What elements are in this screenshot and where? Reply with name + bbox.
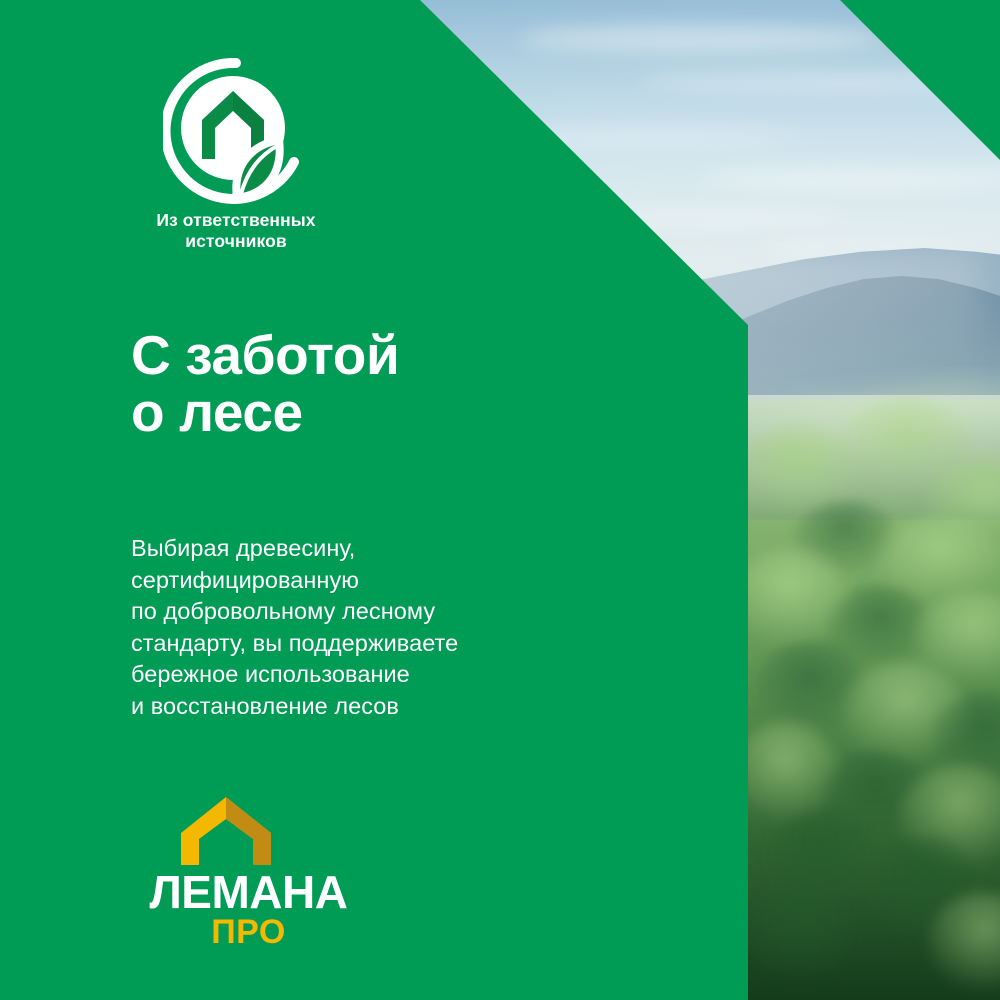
eco-house-leaf-circle-icon	[163, 58, 309, 204]
headline-line-2: о лесе	[131, 384, 651, 441]
eco-badge-caption: Из ответственных источников	[131, 210, 341, 253]
pro-wordmark: ПРО	[131, 915, 366, 949]
promo-banner: Из ответственных источников С заботой о …	[0, 0, 1000, 1000]
lemana-wordmark: ЛЕМАНА	[131, 869, 366, 915]
body-copy-line: стандарту, вы поддерживаете	[131, 628, 671, 660]
headline-line-1: С заботой	[131, 327, 651, 384]
lemana-pro-logo: ЛЕМАНА ПРО	[131, 795, 366, 945]
lemana-house-icon	[179, 795, 273, 867]
eco-badge-caption-line1: Из ответственных	[131, 210, 341, 231]
body-copy-line: бережное использование	[131, 659, 671, 691]
page-title: С заботой о лесе	[131, 327, 651, 441]
body-copy-line: по добровольному лесному	[131, 596, 671, 628]
body-copy-line: сертифицированную	[131, 565, 671, 597]
body-copy: Выбирая древесину, сертифицированную по …	[131, 533, 671, 723]
body-copy-line: и восстановление лесов	[131, 691, 671, 723]
body-copy-line: Выбирая древесину,	[131, 533, 671, 565]
eco-badge-caption-line2: источников	[131, 231, 341, 252]
eco-badge: Из ответственных источников	[131, 58, 341, 263]
